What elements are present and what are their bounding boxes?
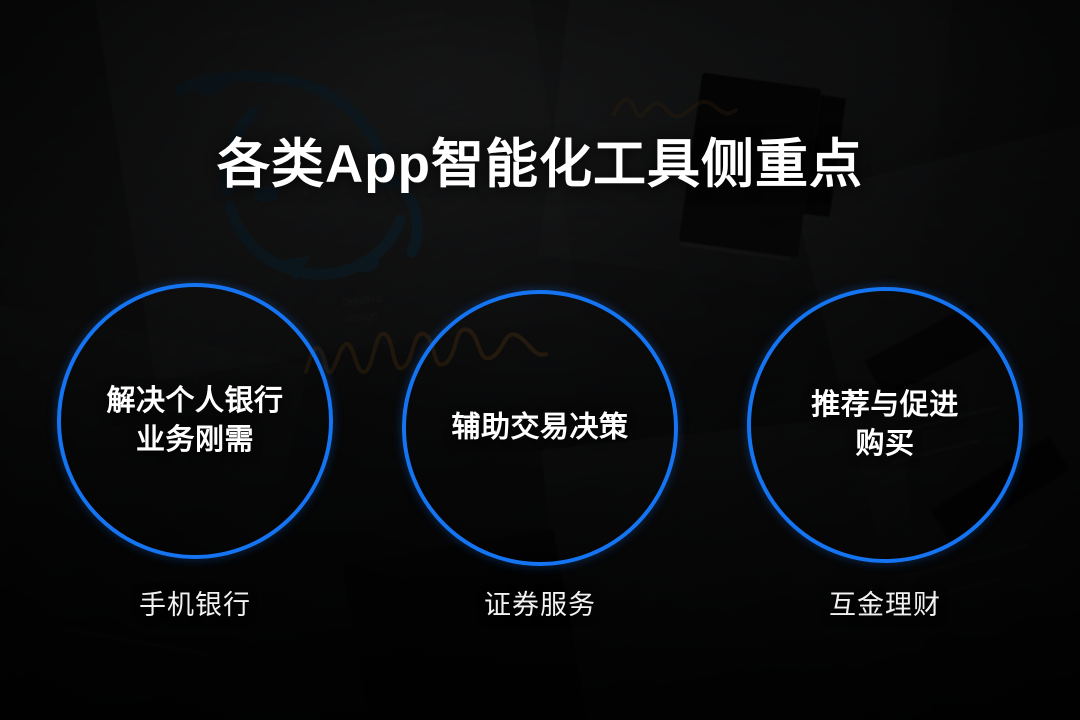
- circle-label: 推荐与促进 购买: [753, 386, 1017, 464]
- page-title: 各类App智能化工具侧重点: [0, 136, 1080, 193]
- circle-label-line: 辅助交易决策: [408, 409, 672, 448]
- circle-label-line: 业务刚需: [63, 421, 327, 460]
- circle-item-securities[interactable]: 辅助交易决策: [402, 290, 678, 566]
- circle-item-mobile-banking[interactable]: 解决个人银行 业务刚需: [57, 283, 333, 559]
- circle-label: 解决个人银行 业务刚需: [63, 382, 327, 460]
- circle-label-line: 推荐与促进: [753, 386, 1017, 425]
- caption-fintech-wealth: 互金理财: [747, 583, 1023, 622]
- circle-label-line: 购买: [753, 425, 1017, 464]
- caption-securities: 证券服务: [402, 583, 678, 622]
- caption-mobile-banking: 手机银行: [57, 583, 333, 622]
- circle-item-fintech-wealth[interactable]: 推荐与促进 购买: [747, 287, 1023, 563]
- slide-content: 各类App智能化工具侧重点 解决个人银行 业务刚需 辅助交易决策 推荐与促进: [0, 0, 1080, 720]
- caption-row: 手机银行 证券服务 互金理财: [0, 583, 1080, 623]
- slide-canvas: Problem design User research and analysi…: [0, 0, 1080, 720]
- circle-row: 解决个人银行 业务刚需 辅助交易决策 推荐与促进 购买: [0, 283, 1080, 563]
- circle-label: 辅助交易决策: [408, 409, 672, 448]
- circle-label-line: 解决个人银行: [63, 382, 327, 421]
